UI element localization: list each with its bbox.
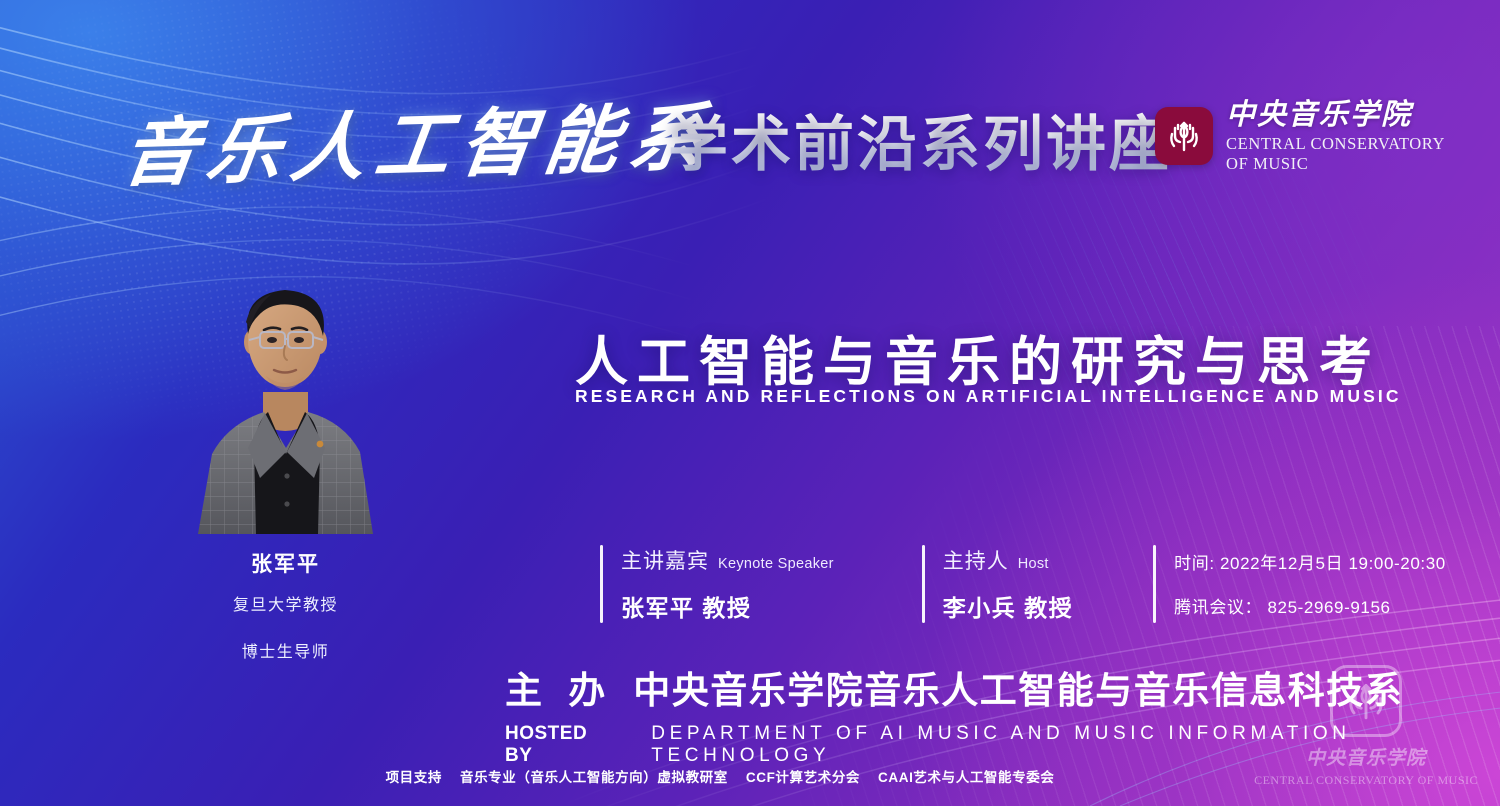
divider-bar bbox=[600, 545, 603, 623]
divider-bar bbox=[1153, 545, 1156, 623]
keynote-label-cn: 主讲嘉宾 bbox=[621, 545, 709, 575]
speaker-name: 张军平 bbox=[168, 548, 403, 578]
meeting-id: 腾讯会议： 825-2969-9156 bbox=[1174, 593, 1446, 618]
ccom-logo: 中央音乐学院 CENTRAL CONSERVATORY OF MUSIC bbox=[1155, 100, 1445, 172]
speaker-affiliation: 复旦大学教授 bbox=[168, 591, 403, 615]
organizer-label-en: HOSTED BY bbox=[505, 723, 615, 767]
meeting-meta-block: 时间: 2022年12月5日 19:00-20:30 腾讯会议： 825-296… bbox=[1073, 545, 1446, 623]
keynote-speaker-value: 张军平 教授 bbox=[621, 589, 834, 623]
ccom-name-cn: 中央音乐学院 bbox=[1226, 100, 1445, 129]
series-title: 学术前沿系列讲座 bbox=[668, 96, 1172, 183]
ccom-logo-text: 中央音乐学院 CENTRAL CONSERVATORY OF MUSIC bbox=[1226, 100, 1445, 172]
speaker-role: 博士生导师 bbox=[168, 638, 403, 662]
host-person-block: 主持人 Host 李小兵 教授 bbox=[834, 545, 1073, 623]
host-label-en: Host bbox=[1018, 556, 1049, 572]
lecture-poster: 音乐人工智能系 学术前沿系列讲座 bbox=[0, 0, 1500, 806]
department-brush-title: 音乐人工智能系 bbox=[117, 78, 721, 201]
keynote-label-en: Keynote Speaker bbox=[718, 556, 834, 572]
lecture-info-row: 主讲嘉宾 Keynote Speaker 张军平 教授 主持人 Host 李小兵… bbox=[600, 545, 1446, 623]
poster-header: 音乐人工智能系 学术前沿系列讲座 bbox=[0, 0, 1500, 200]
ccom-seal-icon bbox=[1155, 107, 1213, 165]
host-person-value: 李小兵 教授 bbox=[943, 589, 1073, 623]
host-label-cn: 主持人 bbox=[943, 545, 1009, 575]
lecture-title-cn: 人工智能与音乐的研究与思考 bbox=[575, 320, 1381, 396]
footer-support-strip: 项目支持 音乐专业（音乐人工智能方向）虚拟教研室 CCF计算艺术分会 CAAI艺… bbox=[0, 766, 1500, 786]
organizer-name-cn: 中央音乐学院音乐人工智能与音乐信息科技系 bbox=[633, 660, 1403, 714]
support-item-virtual-lab: 音乐专业（音乐人工智能方向）虚拟教研室 bbox=[460, 766, 728, 786]
organizer-band: 主 办 中央音乐学院音乐人工智能与音乐信息科技系 HOSTED BY DEPAR… bbox=[505, 660, 1500, 767]
keynote-speaker-block: 主讲嘉宾 Keynote Speaker 张军平 教授 bbox=[600, 545, 834, 623]
organizer-name-en: DEPARTMENT OF AI MUSIC AND MUSIC INFORMA… bbox=[651, 723, 1500, 767]
support-item-caai: CAAI艺术与人工智能专委会 bbox=[878, 766, 1054, 786]
divider-bar bbox=[922, 545, 925, 623]
speaker-photo bbox=[168, 272, 403, 534]
organizer-label-cn: 主 办 bbox=[505, 660, 613, 714]
lecture-time: 时间: 2022年12月5日 19:00-20:30 bbox=[1174, 549, 1446, 574]
speaker-portrait-block: 张军平 复旦大学教授 博士生导师 bbox=[168, 272, 403, 662]
support-label: 项目支持 bbox=[386, 766, 442, 786]
support-item-ccf: CCF计算艺术分会 bbox=[746, 766, 860, 786]
ccom-name-en-line2: OF MUSIC bbox=[1226, 156, 1445, 173]
ccom-name-en-line1: CENTRAL CONSERVATORY bbox=[1226, 136, 1445, 153]
lecture-title-en: RESEARCH AND REFLECTIONS ON ARTIFICIAL I… bbox=[575, 386, 1402, 407]
